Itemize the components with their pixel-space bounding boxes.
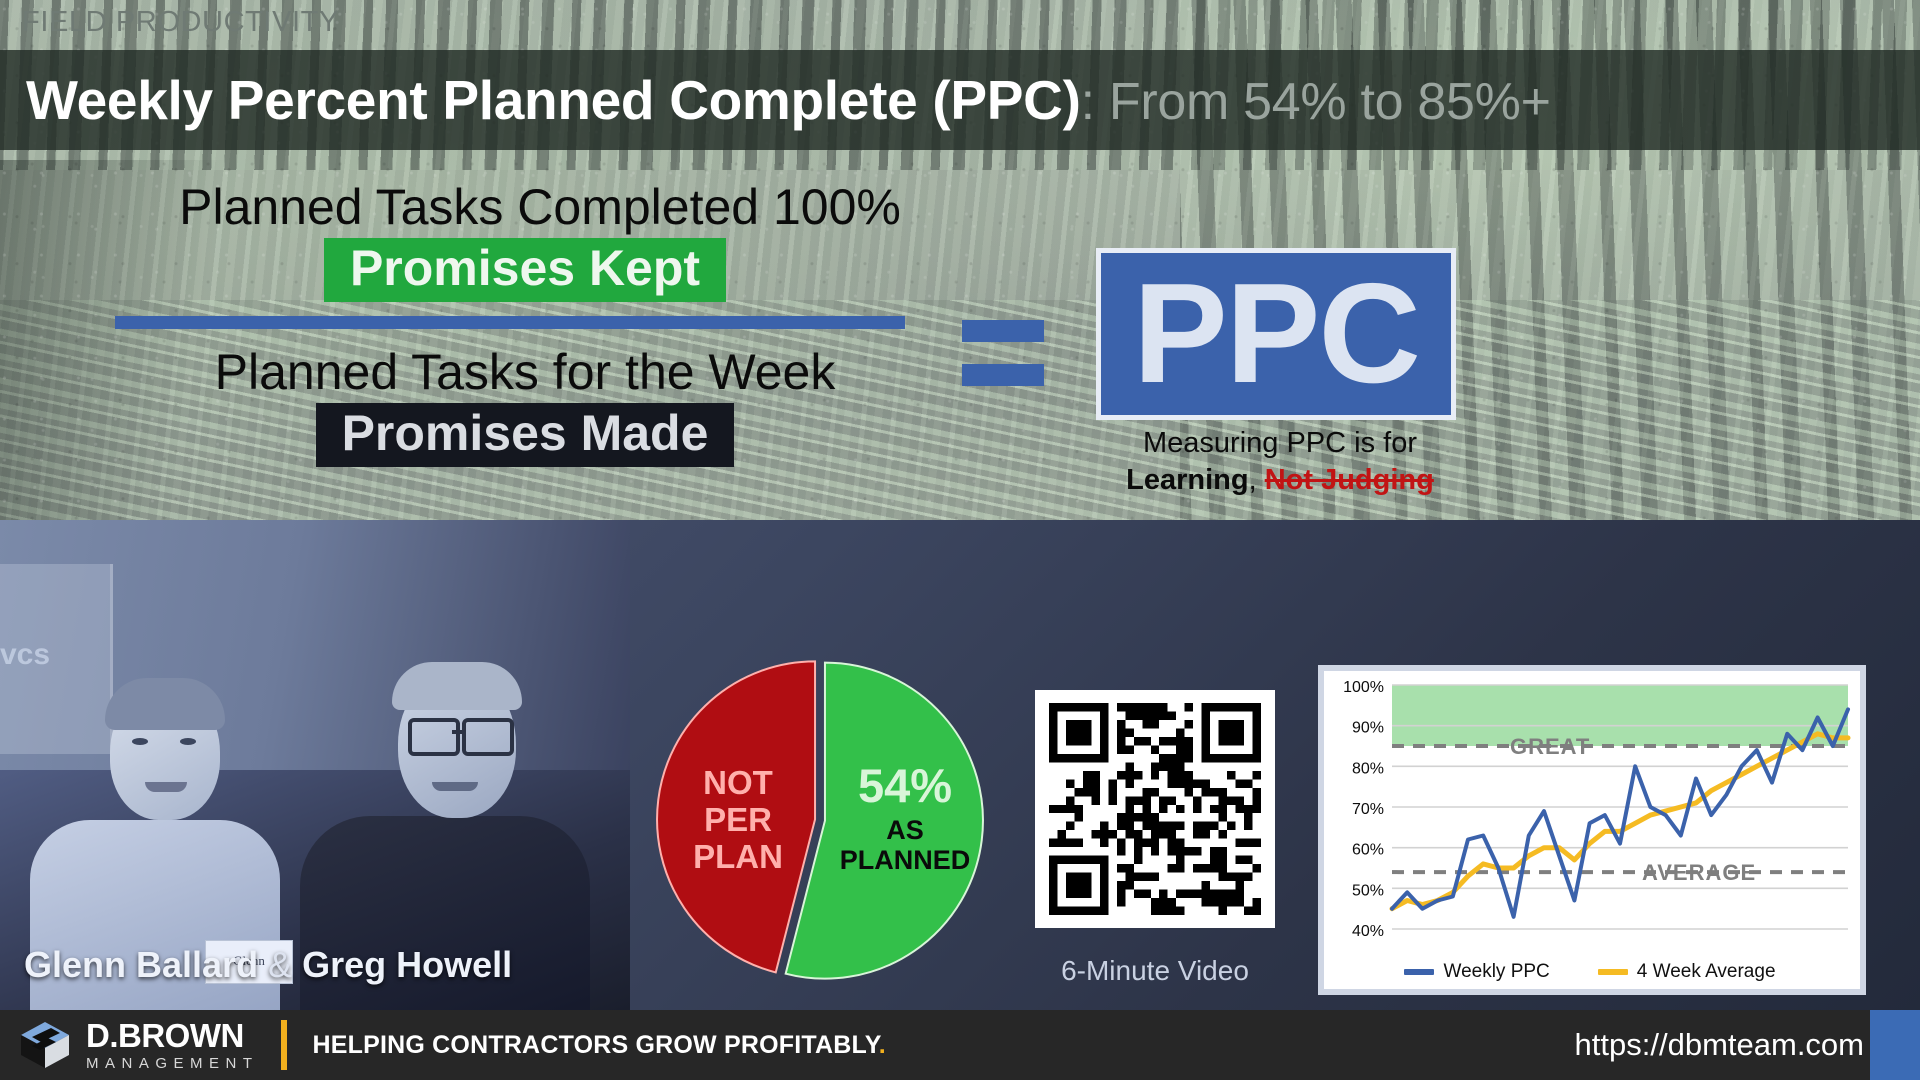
brand-subtitle: MANAGEMENT <box>86 1056 259 1071</box>
formula-numerator-text: Planned Tasks Completed 100% <box>140 180 940 234</box>
slide-root: FIELD PRODUCTIVITY Weekly Percent Planne… <box>0 0 1920 1080</box>
ppc-note-learning: Learning <box>1126 464 1248 496</box>
legend-swatch-4-week-average <box>1598 969 1628 975</box>
page-title: Weekly Percent Planned Complete (PPC): F… <box>26 68 1551 132</box>
person1-eye-right <box>180 738 196 745</box>
tagline-dot: . <box>879 1031 886 1059</box>
ppc-result-label: PPC <box>1133 263 1419 405</box>
svg-text:60%: 60% <box>1352 842 1384 859</box>
person1-mouth <box>145 782 187 792</box>
legend-label-4-week-average: 4 Week Average <box>1637 961 1776 983</box>
qr-code-icon[interactable] <box>1035 690 1275 928</box>
photo-wall-text: vcs <box>0 638 50 672</box>
person2-mouth <box>432 782 478 791</box>
svg-text:100%: 100% <box>1343 679 1384 696</box>
weekly-ppc-trend-chart: 40%50%60%70%80%90%100%GREATAVERAGE Weekl… <box>1318 665 1866 995</box>
cube-logo-icon <box>18 1019 72 1071</box>
cube-logo-svg <box>18 1019 72 1071</box>
brand-name: D.BROWN <box>86 1019 259 1052</box>
legend-item-4-week-average: 4 Week Average <box>1598 961 1776 983</box>
pie-label-line-planned: PLANNED <box>835 845 975 875</box>
legend-swatch-weekly-ppc <box>1404 969 1434 975</box>
line-chart-svg: 40%50%60%70%80%90%100%GREATAVERAGE <box>1330 677 1866 967</box>
svg-text:50%: 50% <box>1352 882 1384 899</box>
svg-text:40%: 40% <box>1352 923 1384 940</box>
photo-caption: Glenn Ballard & Greg Howell <box>24 944 512 986</box>
brand-lockup: D.BROWN MANAGEMENT <box>86 1019 259 1071</box>
formula-denominator-chip-row: Promises Made <box>110 399 940 467</box>
pie-label-line-not: NOT <box>673 765 803 802</box>
footer-url[interactable]: https://dbmteam.com <box>1575 1027 1864 1063</box>
caption-name-2: Greg Howell <box>302 944 512 985</box>
svg-text:GREAT: GREAT <box>1510 734 1590 759</box>
equals-sign-icon <box>962 320 1044 386</box>
title-band: Weekly Percent Planned Complete (PPC): F… <box>0 50 1920 150</box>
formula-numerator-chip-row: Promises Kept <box>110 234 940 302</box>
svg-text:80%: 80% <box>1352 760 1384 777</box>
speakers-photo: vcs Glenn <box>0 520 630 1010</box>
pie-label-as-planned: AS PLANNED <box>835 815 975 875</box>
ppc-note: Measuring PPC is for Learning, Not Judgi… <box>1080 425 1480 499</box>
caption-amp: & <box>258 944 302 985</box>
person1-hair <box>105 678 225 730</box>
qr-caption: 6-Minute Video <box>1010 955 1300 987</box>
kicker-label: FIELD PRODUCTIVITY <box>22 6 339 39</box>
pie-label-line-plan: PLAN <box>673 839 803 876</box>
logo-divider <box>281 1020 287 1070</box>
legend-item-weekly-ppc: Weekly PPC <box>1404 961 1549 983</box>
pie-value-as-planned: 54% <box>835 760 975 813</box>
pie-label-not-per-plan: NOT PER PLAN <box>673 765 803 876</box>
person2-glasses-left <box>408 718 460 756</box>
ppc-note-line2: Learning, Not Judging <box>1080 462 1480 499</box>
footer-bar: D.BROWN MANAGEMENT HELPING CONTRACTORS G… <box>0 1010 1920 1080</box>
tagline-text: HELPING CONTRACTORS GROW PROFITABLY <box>313 1031 879 1059</box>
promises-kept-chip: Promises Kept <box>324 238 726 302</box>
formula-denominator-text: Planned Tasks for the Week <box>110 345 940 399</box>
title-subtitle: : From 54% to 85%+ <box>1081 73 1551 131</box>
chart-inner: 40%50%60%70%80%90%100%GREATAVERAGE Weekl… <box>1330 677 1850 985</box>
person2-glasses-bridge <box>452 730 464 734</box>
footer-accent-block <box>1870 1010 1920 1080</box>
person2-glasses-right <box>462 718 514 756</box>
fraction-bar <box>115 316 905 329</box>
svg-text:AVERAGE: AVERAGE <box>1642 860 1756 885</box>
footer-tagline: HELPING CONTRACTORS GROW PROFITABLY. <box>313 1031 886 1060</box>
svg-text:90%: 90% <box>1352 720 1384 737</box>
ppc-result-box: PPC <box>1096 248 1456 420</box>
chart-legend: Weekly PPC 4 Week Average <box>1330 961 1850 983</box>
ppc-note-comma: , <box>1249 464 1265 496</box>
svg-text:70%: 70% <box>1352 801 1384 818</box>
qr-code-svg <box>1048 703 1262 915</box>
ppc-formula: Planned Tasks Completed 100% Promises Ke… <box>110 180 940 467</box>
title-main-text: Weekly Percent Planned Complete (PPC) <box>26 69 1081 131</box>
caption-name-1: Glenn Ballard <box>24 944 258 985</box>
pie-label-line-as: AS <box>835 815 975 845</box>
person2-hair <box>392 662 522 710</box>
promises-made-chip: Promises Made <box>316 403 735 467</box>
ppc-note-not-judging: Not Judging <box>1265 464 1434 496</box>
person1-eye-left <box>132 738 148 745</box>
pie-label-line-per: PER <box>673 802 803 839</box>
legend-label-weekly-ppc: Weekly PPC <box>1443 961 1549 983</box>
ppc-pie-chart: NOT PER PLAN 54% AS PLANNED <box>655 655 985 985</box>
ppc-note-line1: Measuring PPC is for <box>1080 425 1480 462</box>
